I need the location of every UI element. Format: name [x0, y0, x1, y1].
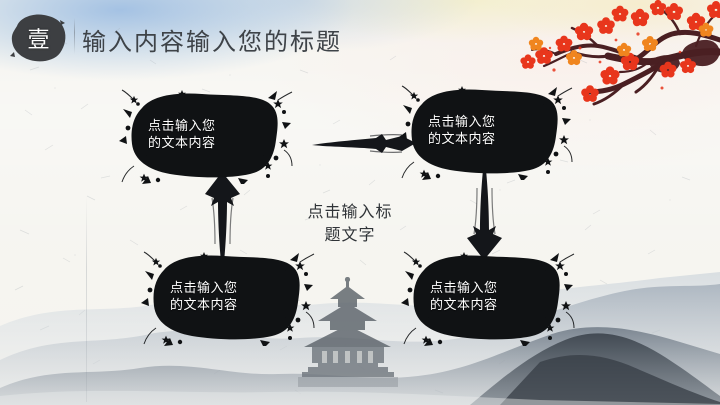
content-box-bottom-left[interactable]: 点击输入您 的文本内容 [140, 250, 316, 346]
page-title: 输入内容输入您的标题 [82, 22, 342, 57]
center-caption-line1: 点击输入标 [307, 202, 392, 221]
content-line1: 点击输入您 [170, 280, 295, 297]
content-box-text: 点击输入您 的文本内容 [170, 280, 295, 314]
content-box-top-right[interactable]: 点击输入您 的文本内容 [398, 84, 574, 180]
center-caption-line2: 题文字 [284, 223, 416, 246]
content-box-text: 点击输入您 的文本内容 [148, 118, 273, 152]
content-line1: 点击输入您 [430, 280, 555, 297]
content-line2: 的文本内容 [428, 131, 553, 148]
content-box-text: 点击输入您 的文本内容 [430, 280, 555, 314]
content-box-text: 点击输入您 的文本内容 [428, 114, 553, 148]
section-number-badge: 壹 [8, 12, 70, 64]
left-guide-line [86, 196, 87, 402]
section-number-text: 壹 [8, 12, 70, 64]
content-line1: 点击输入您 [148, 118, 273, 135]
content-box-top-left[interactable]: 点击输入您 的文本内容 [118, 88, 294, 184]
slide-canvas: 壹 输入内容输入您的标题 点击输入标 题文字 [0, 0, 720, 405]
slide-header: 壹 输入内容输入您的标题 [0, 0, 720, 78]
center-caption: 点击输入标 题文字 [284, 200, 416, 246]
content-line2: 的文本内容 [148, 135, 273, 152]
content-line2: 的文本内容 [430, 297, 555, 314]
content-line1: 点击输入您 [428, 114, 553, 131]
content-box-bottom-right[interactable]: 点击输入您 的文本内容 [400, 250, 576, 346]
header-divider [74, 18, 75, 54]
content-line2: 的文本内容 [170, 297, 295, 314]
